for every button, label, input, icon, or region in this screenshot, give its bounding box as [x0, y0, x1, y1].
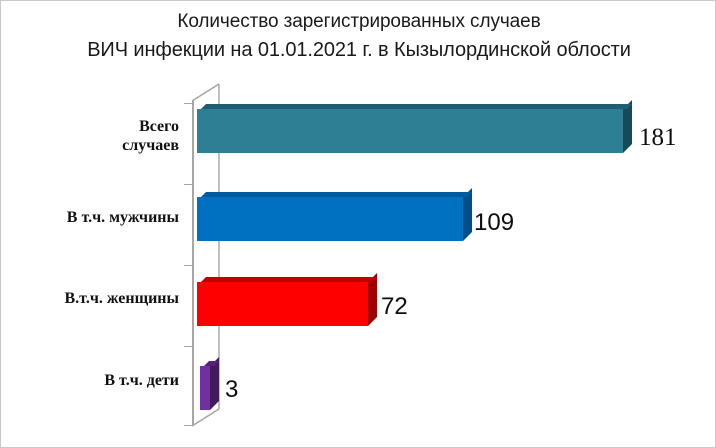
category-label-children: В т.ч. дети	[104, 371, 179, 390]
value-label-men: 109	[474, 211, 514, 235]
axis-tick-2	[184, 265, 193, 266]
category-label-women: В.т.ч. женщины	[65, 289, 180, 308]
bar-men	[197, 188, 472, 232]
chart-title: Количество зарегистрированных случаев ВИ…	[1, 7, 716, 65]
axis-depth-line-top	[190, 82, 222, 102]
bar-women	[197, 273, 377, 317]
bar-total-face	[197, 109, 623, 153]
category-label-men: В т.ч. мужчины	[67, 208, 179, 227]
bar-men-face	[197, 197, 463, 241]
bar-women-face	[197, 282, 368, 326]
axis-tick-3	[184, 346, 193, 347]
axis-depth-line-bottom	[190, 407, 222, 427]
axis-tick-0	[184, 103, 193, 104]
chart-container: Количество зарегистрированных случаев ВИ…	[0, 0, 716, 448]
value-label-women: 72	[381, 295, 408, 319]
axis-line-front	[192, 101, 194, 426]
axis-tick-1	[184, 184, 193, 185]
value-label-children: 3	[225, 378, 238, 402]
chart-title-line-1: Количество зарегистрированных случаев	[1, 7, 716, 36]
bar-women-top	[197, 273, 377, 282]
chart-title-line-2: ВИЧ инфекции на 01.01.2021 г. в Кызылорд…	[1, 36, 716, 65]
bar-children	[200, 357, 219, 401]
bar-children-face	[200, 366, 210, 410]
axis-tick-4	[184, 425, 193, 426]
bar-men-top	[197, 188, 472, 197]
value-label-total: 181	[639, 126, 677, 150]
plot-area: Всего случаев В т.ч. мужчины В.т.ч. женщ…	[1, 79, 716, 439]
bar-children-top	[200, 357, 219, 366]
bar-total-top	[197, 100, 632, 109]
category-label-total: Всего случаев	[122, 117, 179, 155]
bar-total	[197, 100, 632, 144]
